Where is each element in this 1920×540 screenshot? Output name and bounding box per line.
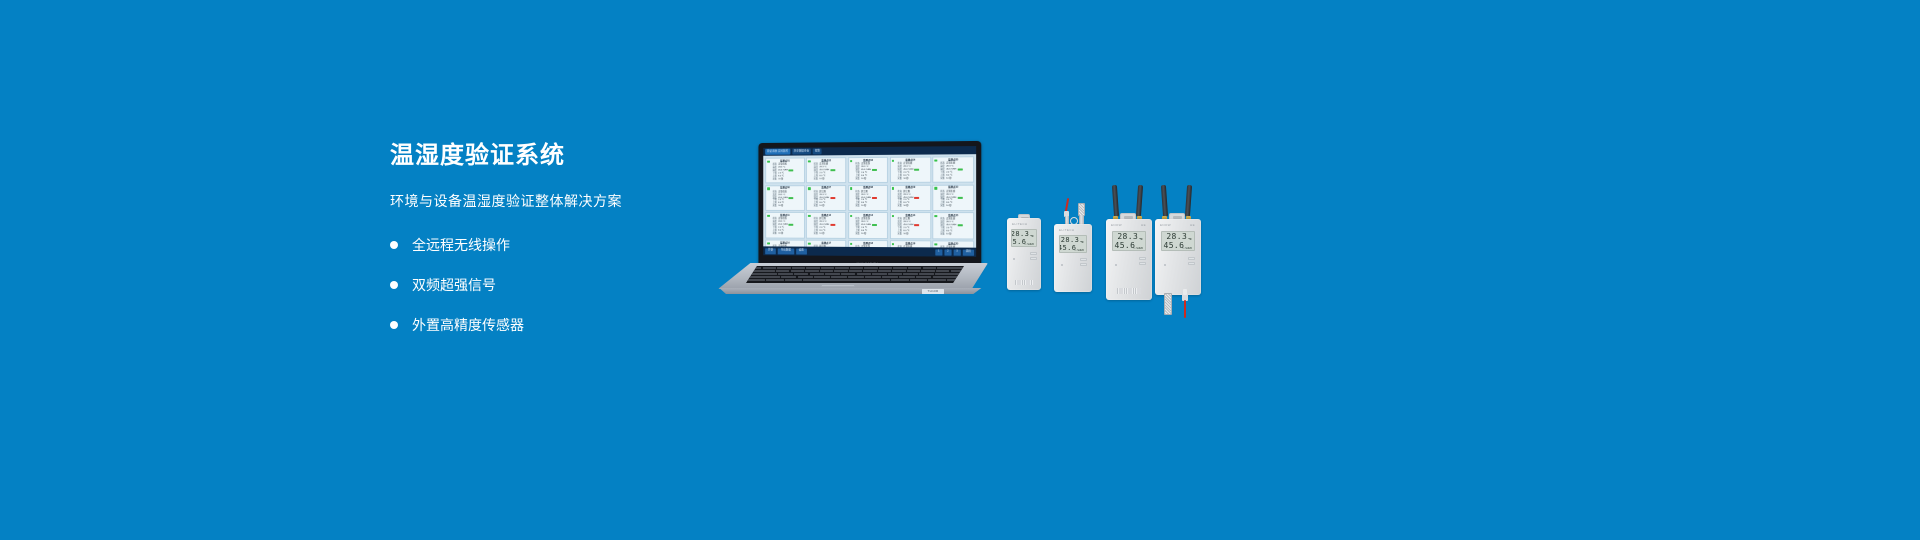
monitor-card[interactable]: 监测点01状态正常在线温度28.3 °C湿度45.6 %RH下限2.0 ℃上限8…: [765, 157, 805, 183]
status-badge: [872, 169, 877, 171]
card-extra-label: 采集: [809, 233, 818, 236]
card-status-led-icon: [934, 243, 937, 246]
device-logger-with-probes: ELITECH 28.3 ℃ 45.6 %RH RC-4HC: [1054, 198, 1092, 292]
card-row: 采集10 秒: [768, 205, 802, 208]
key-row: [748, 276, 964, 278]
card-status-led-icon: [850, 187, 852, 190]
start-button[interactable]: 开始: [765, 248, 776, 254]
temperature-value: 28.3: [1166, 232, 1187, 241]
card-row: 采集10 秒: [893, 205, 928, 208]
card-row: 采集10 秒: [768, 178, 802, 181]
temperature-value: 28.3: [1011, 230, 1029, 238]
promo-banner: 温湿度验证系统 环境与设备温湿度验证整体解决方案 全远程无线操作 双频超强信号 …: [0, 0, 1920, 540]
monitor-card-grid: 监测点01状态正常在线温度28.3 °C湿度45.6 %RH下限2.0 ℃上限8…: [763, 154, 976, 257]
monitor-card[interactable]: 监测点02状态正常在线温度28.3 °C湿度45.6 %RH下限2.0 ℃上限8…: [806, 157, 846, 183]
status-badge: [957, 168, 962, 170]
device-brand-suffix-label: HE: [1190, 223, 1195, 227]
key-row: [748, 267, 964, 269]
exit-button[interactable]: 退出: [963, 249, 974, 255]
card-extra-label: 采集: [768, 178, 777, 181]
card-extra-value: 10 秒: [903, 178, 908, 181]
card-row: 采集10 秒: [809, 178, 843, 181]
card-extra-value: 10 秒: [861, 205, 866, 208]
card-extra-label: 采集: [851, 178, 860, 181]
card-extra-value: 10 秒: [903, 233, 908, 236]
card-status-led-icon: [767, 160, 769, 162]
device-wireless-logger-right: ENOW HE 28.3 ℃ 45.6 %RH RC-4HC: [1155, 185, 1201, 320]
monitor-card[interactable]: 监测点06状态正常在线温度28.3 °C湿度45.6 %RH下限2.0 ℃上限8…: [765, 185, 805, 211]
feature-label: 全远程无线操作: [412, 235, 510, 255]
monitor-card[interactable]: 监测点03状态正常在线温度28.3 °C湿度45.6 %RH下限2.0 ℃上限8…: [848, 157, 889, 183]
card-status-led-icon: [808, 242, 810, 244]
probe-cable-red: [1184, 300, 1186, 318]
device-brand-label: ELITECH: [1059, 228, 1074, 232]
device-button-down[interactable]: [1188, 262, 1195, 265]
banner-copy: 温湿度验证系统 环境与设备温湿度验证整体解决方案 全远程无线操作 双频超强信号 …: [390, 140, 720, 355]
card-extra-label: 采集: [851, 205, 860, 208]
card-row: 采集10 秒: [809, 205, 843, 208]
card-status-led-icon: [850, 160, 852, 163]
device-button-up[interactable]: [1188, 257, 1195, 260]
device-keypad[interactable]: [1188, 257, 1195, 265]
temperature-value: 28.3: [1061, 236, 1079, 244]
status-badge: [957, 196, 962, 198]
card-row: 采集10 秒: [935, 177, 970, 180]
monitor-card[interactable]: 监测点04状态正常在线温度28.3 °C湿度45.6 %RH下限2.0 ℃上限8…: [890, 157, 931, 184]
list-item: 全远程无线操作: [390, 235, 720, 255]
feature-label: 双频超强信号: [412, 275, 496, 295]
bullet-icon: [390, 281, 398, 289]
card-status-led-icon: [892, 187, 895, 190]
card-extra-value: 10 秒: [819, 205, 824, 208]
key-row: [748, 270, 964, 272]
bullet-icon: [390, 321, 398, 329]
card-extra-label: 采集: [768, 233, 777, 236]
status-badge: [957, 224, 962, 226]
status-badge: [830, 224, 835, 226]
card-extra-label: 采集: [893, 178, 902, 181]
laptop-sticker: TH10R: [922, 289, 944, 294]
settings-button[interactable]: 设置: [796, 248, 807, 254]
device-button-down[interactable]: [1030, 257, 1037, 260]
card-row: 采集10 秒: [809, 233, 843, 236]
page-subtitle: 环境与设备温湿度验证整体解决方案: [390, 191, 720, 211]
temperature-unit: ℃: [1030, 234, 1034, 238]
card-status-led-icon: [850, 242, 852, 245]
card-row: 采集10 秒: [935, 233, 970, 236]
export-data-button[interactable]: 导出数据: [778, 248, 794, 254]
monitor-card[interactable]: 监测点05状态正常在线温度28.3 °C湿度45.6 %RH下限2.0 ℃上限8…: [932, 156, 974, 183]
humidity-value: 45.6: [1164, 241, 1185, 250]
card-row: 采集10 秒: [851, 178, 886, 181]
card-extra-label: 采集: [809, 205, 818, 208]
sensor-vent: [1015, 280, 1033, 285]
card-extra-value: 10 秒: [819, 178, 824, 181]
status-badge: [789, 169, 794, 171]
monitor-card[interactable]: 监测点09状态超上限温度28.3 °C湿度45.6 %RH下限2.0 ℃上限8.…: [890, 184, 931, 210]
device-button-up[interactable]: [1030, 252, 1037, 255]
card-extra-label: 采集: [851, 233, 860, 236]
device-housing: ENOW HE 28.3 ℃ 45.6 %RH RC-4HC: [1106, 219, 1152, 300]
status-badge: [830, 169, 835, 171]
card-status-led-icon: [808, 215, 810, 217]
page-title: 温湿度验证系统: [390, 140, 720, 171]
laptop-screen: 验证系统·实时监控 历史数据查询 报警 监测点01状态正常在线温度28.3 °C…: [763, 146, 976, 257]
device-brand-suffix-label: HE: [1141, 223, 1146, 227]
device-model-label: RC-4HC: [1075, 250, 1084, 252]
card-row: 采集10 秒: [893, 233, 928, 236]
device-wireless-logger-left: ENOW HE 28.3 ℃ 45.6 %RH RC-4HC: [1106, 185, 1152, 315]
card-extra-value: 10 秒: [946, 233, 951, 236]
device-button-down[interactable]: [1080, 263, 1087, 266]
device-keypad[interactable]: [1030, 252, 1037, 260]
laptop-keyboard[interactable]: [746, 266, 964, 283]
monitor-card[interactable]: 监测点13状态正常在线温度28.3 °C湿度45.6 %RH下限2.0 ℃上限8…: [848, 212, 889, 238]
monitor-card[interactable]: 监测点11状态正常在线温度28.3 °C湿度45.6 %RH下限2.0 ℃上限8…: [765, 212, 805, 238]
sticker-label: TH10R: [927, 289, 938, 293]
sensor-vent: [1117, 288, 1141, 294]
monitor-card[interactable]: 监测点12状态超上限温度28.3 °C湿度45.6 %RH下限2.0 ℃上限8.…: [806, 212, 846, 238]
bullet-icon: [390, 241, 398, 249]
status-led-icon: [1013, 258, 1015, 260]
toolbar-spacer: [809, 251, 933, 252]
device-housing: ELITECH 28.3 ℃ 45.6 %RH RC-4HC: [1054, 224, 1092, 292]
monitor-card[interactable]: 监测点14状态超上限温度28.3 °C湿度45.6 %RH下限2.0 ℃上限8.…: [890, 212, 931, 238]
list-item: 双频超强信号: [390, 275, 720, 295]
antenna-right-icon: [1185, 185, 1192, 217]
card-status-led-icon: [808, 160, 810, 162]
card-extra-value: 10 秒: [819, 233, 824, 236]
device-keypad[interactable]: [1080, 258, 1087, 266]
laptop-illustration: 验证系统·实时监控 历史数据查询 报警 监测点01状态正常在线温度28.3 °C…: [718, 142, 988, 297]
card-extra-value: 10 秒: [946, 177, 951, 180]
key-row: [748, 279, 964, 281]
status-badge: [872, 224, 877, 226]
device-model-label: RC-4HC: [1025, 244, 1034, 246]
antenna-left-icon: [1112, 185, 1119, 217]
list-item: 外置高精度传感器: [390, 315, 720, 335]
card-extra-label: 采集: [768, 205, 777, 208]
page-button-1[interactable]: 1: [935, 249, 942, 255]
tab-history-query[interactable]: 历史数据查询: [792, 148, 811, 154]
page-button-3[interactable]: 3: [953, 249, 960, 255]
feature-label: 外置高精度传感器: [412, 315, 524, 335]
device-housing: ELITECH 28.3 ℃ 45.6 %RH RC-4HC: [1007, 218, 1041, 290]
device-brand-label: ELITECH: [1012, 222, 1027, 226]
lcd-display: 28.3 ℃ 45.6 %RH RC-4HC: [1161, 231, 1195, 251]
temperature-unit: ℃: [1080, 240, 1084, 244]
humidity-probe-mesh: [1164, 293, 1172, 315]
card-status-led-icon: [767, 215, 769, 217]
key-row: [748, 273, 964, 275]
device-brand-label: ENOW: [1111, 223, 1122, 227]
page-button-2[interactable]: 2: [944, 249, 951, 255]
card-status-led-icon: [934, 187, 937, 190]
card-extra-value: 10 秒: [778, 178, 783, 181]
tab-alarm[interactable]: 报警: [813, 148, 822, 154]
device-button-down[interactable]: [1139, 262, 1146, 265]
status-led-icon: [1061, 264, 1063, 266]
probe-cable-red: [1065, 198, 1069, 212]
card-extra-value: 10 秒: [861, 233, 866, 236]
card-extra-value: 10 秒: [903, 205, 908, 208]
device-housing: ENOW HE 28.3 ℃ 45.6 %RH RC-4HC: [1155, 219, 1201, 295]
device-keypad[interactable]: [1139, 257, 1146, 265]
card-status-led-icon: [767, 187, 769, 189]
laptop-trackpad[interactable]: [821, 284, 855, 287]
temperature-value: 28.3: [1117, 232, 1138, 241]
card-row: 采集10 秒: [851, 205, 886, 208]
device-button-up[interactable]: [1139, 257, 1146, 260]
card-extra-label: 采集: [935, 205, 944, 208]
laptop-lid: 验证系统·实时监控 历史数据查询 报警 监测点01状态正常在线温度28.3 °C…: [758, 141, 981, 271]
antenna-right-icon: [1136, 185, 1143, 217]
card-extra-label: 采集: [809, 178, 818, 181]
status-badge: [914, 169, 919, 171]
laptop-base: TH10R: [718, 263, 988, 297]
card-extra-value: 10 秒: [778, 205, 783, 208]
card-status-led-icon: [934, 159, 937, 162]
card-row: 采集10 秒: [768, 233, 802, 236]
lcd-display: 28.3 ℃ 45.6 %RH RC-4HC: [1011, 229, 1037, 247]
lcd-display: 28.3 ℃ 45.6 %RH RC-4HC: [1059, 235, 1087, 253]
device-model-label: RC-4HC: [1134, 248, 1143, 250]
feature-list: 全远程无线操作 双频超强信号 外置高精度传感器: [390, 235, 720, 335]
card-extra-value: 10 秒: [778, 233, 783, 236]
monitor-card[interactable]: 监测点15状态正常在线温度28.3 °C湿度45.6 %RH下限2.0 ℃上限8…: [932, 212, 974, 239]
card-extra-label: 采集: [935, 233, 944, 236]
card-extra-label: 采集: [893, 205, 902, 208]
status-led-icon: [1115, 264, 1117, 266]
card-row: 采集10 秒: [851, 233, 886, 236]
humidity-value: 45.6: [1115, 241, 1136, 250]
device-button-up[interactable]: [1080, 258, 1087, 261]
monitor-card[interactable]: 监测点10状态正常在线温度28.3 °C湿度45.6 %RH下限2.0 ℃上限8…: [932, 184, 974, 211]
card-status-led-icon: [934, 215, 937, 218]
card-extra-value: 10 秒: [861, 178, 866, 181]
device-brand-label: ENOW: [1160, 223, 1171, 227]
lcd-display: 28.3 ℃ 45.6 %RH RC-4HC: [1112, 231, 1146, 251]
card-row: 采集10 秒: [893, 177, 928, 180]
status-badge: [789, 197, 794, 199]
laptop-front-edge: [718, 288, 984, 294]
temperature-unit: ℃: [1188, 237, 1192, 241]
probe-cable-white: [1183, 289, 1187, 295]
monitor-card[interactable]: 监测点08状态超上限温度28.3 °C湿度45.6 %RH下限2.0 ℃上限8.…: [848, 185, 889, 211]
status-badge: [914, 196, 919, 198]
status-badge: [830, 197, 835, 199]
card-extra-label: 采集: [893, 233, 902, 236]
status-badge: [872, 196, 877, 198]
status-badge: [914, 224, 919, 226]
monitor-card[interactable]: 监测点07状态超上限温度28.3 °C湿度45.6 %RH下限2.0 ℃上限8.…: [806, 185, 846, 211]
device-wall-mount-logger: ELITECH 28.3 ℃ 45.6 %RH RC-4HC: [1007, 214, 1041, 290]
status-badge: [789, 224, 794, 226]
device-model-label: RC-4HC: [1183, 248, 1192, 250]
card-row: 采集10 秒: [935, 205, 970, 208]
card-status-led-icon: [808, 187, 810, 189]
temperature-unit: ℃: [1139, 237, 1143, 241]
card-extra-label: 采集: [935, 177, 944, 180]
card-status-led-icon: [767, 242, 769, 244]
tab-realtime-monitor[interactable]: 验证系统·实时监控: [765, 149, 790, 155]
antenna-left-icon: [1161, 185, 1168, 217]
status-led-icon: [1164, 264, 1166, 266]
card-extra-value: 10 秒: [946, 205, 951, 208]
